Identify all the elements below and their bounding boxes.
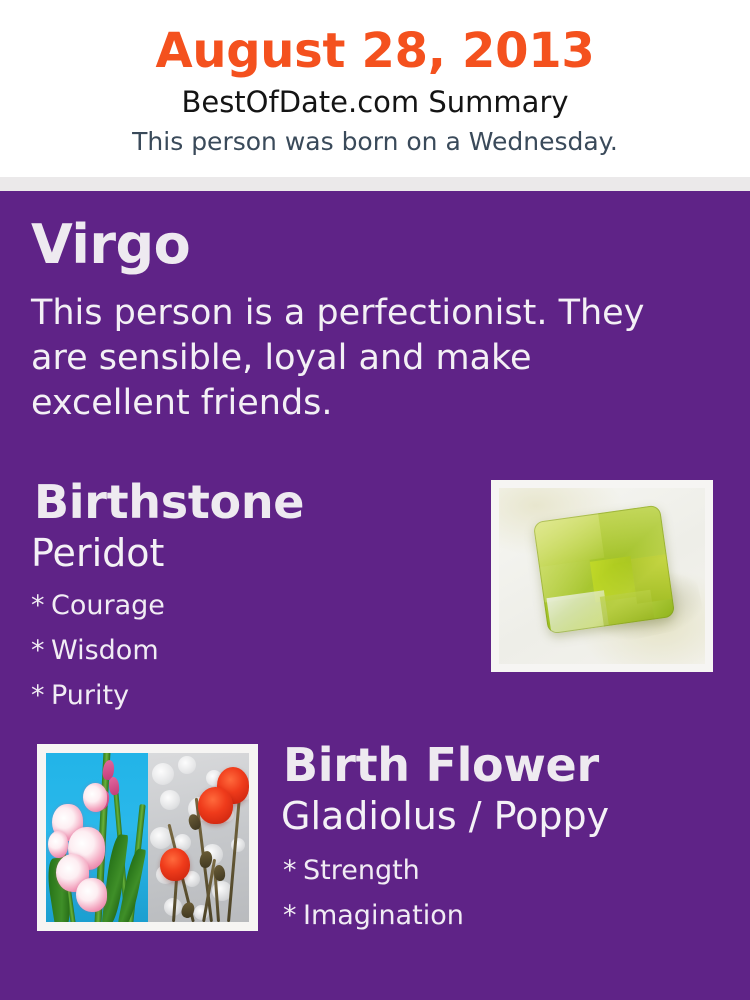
list-item-label: Strength: [303, 855, 420, 886]
poppy-seed-pod: [213, 864, 226, 881]
birthstone-photo: [499, 488, 705, 664]
gladiolus-bud: [108, 776, 120, 795]
list-item-label: Purity: [51, 680, 129, 711]
birthflower-photo: [46, 753, 249, 922]
list-item: *Wisdom: [31, 628, 451, 673]
body-panel: Virgo This person is a perfectionist. Th…: [0, 191, 750, 1000]
poppy-photo-half: [148, 753, 250, 922]
zodiac-description: This person is a perfectionist. They are…: [31, 291, 651, 426]
header-divider: [0, 177, 750, 191]
bullet-asterisk-icon: *: [31, 673, 51, 718]
list-item-label: Courage: [51, 590, 165, 621]
gladiolus-photo-half: [46, 753, 148, 922]
bokeh-light: [152, 763, 174, 785]
list-item-label: Wisdom: [51, 635, 159, 666]
bullet-asterisk-icon: *: [31, 583, 51, 628]
bullet-asterisk-icon: *: [283, 848, 303, 893]
birthflower-heading: Birth Flower: [283, 738, 599, 792]
list-item: *Purity: [31, 673, 451, 718]
birthstone-heading: Birthstone: [34, 475, 304, 529]
site-name: BestOfDate.com Summary: [0, 84, 750, 120]
poppy-bloom: [198, 787, 233, 824]
birth-day-of-week-text: This person was born on a Wednesday.: [0, 126, 750, 158]
bokeh-light: [178, 756, 196, 774]
gladiolus-bloom: [76, 878, 106, 912]
gladiolus-bloom: [48, 831, 68, 858]
list-item-label: Imagination: [303, 900, 464, 931]
list-item: *Imagination: [283, 893, 723, 938]
poppy-seed-pod: [180, 900, 197, 919]
list-item: *Courage: [31, 583, 451, 628]
bokeh-light: [160, 790, 180, 810]
zodiac-sign-title: Virgo: [31, 215, 190, 275]
page-title-date: August 28, 2013: [0, 23, 750, 79]
birthstone-trait-list: *Courage *Wisdom *Purity: [31, 583, 451, 718]
birthstone-name: Peridot: [31, 530, 164, 576]
peridot-gem-icon: [533, 504, 675, 633]
birthstone-photo-frame: [491, 480, 713, 672]
list-item: *Strength: [283, 848, 723, 893]
bullet-asterisk-icon: *: [283, 893, 303, 938]
gem-outline: [533, 504, 675, 633]
birthflower-photo-frame: [37, 744, 258, 931]
poppy-bloom: [160, 848, 190, 882]
gladiolus-bloom: [83, 783, 107, 812]
summary-card: August 28, 2013 BestOfDate.com Summary T…: [0, 0, 750, 1000]
birthflower-trait-list: *Strength *Imagination: [283, 848, 723, 938]
birthflower-name: Gladiolus / Poppy: [281, 793, 609, 839]
header: August 28, 2013 BestOfDate.com Summary T…: [0, 0, 750, 177]
bullet-asterisk-icon: *: [31, 628, 51, 673]
